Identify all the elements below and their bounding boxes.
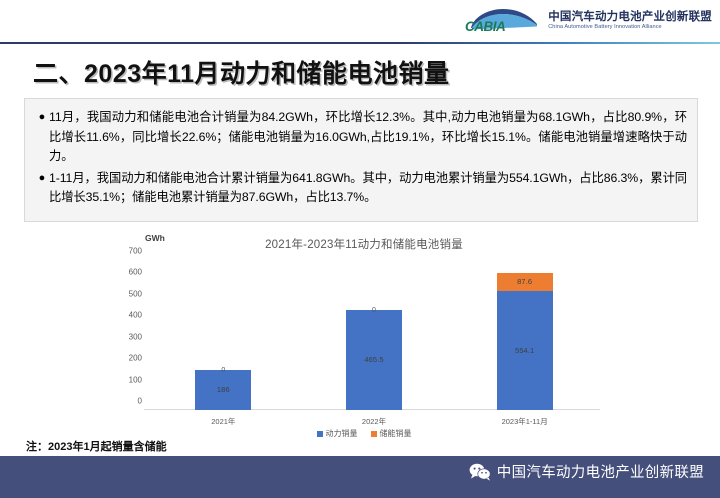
- brand-name-cn: 中国汽车动力电池产业创新联盟: [548, 11, 712, 23]
- chart-bar-value-label: 186: [195, 385, 251, 394]
- y-axis-tick: 700: [129, 247, 142, 256]
- y-axis-tick: 0: [138, 397, 142, 406]
- sales-bar-chart: GWh 2021年-2023年11动力和储能电池销量 7006005004003…: [118, 228, 610, 443]
- chart-legend-item[interactable]: 储能销量: [371, 428, 412, 439]
- brand-logo: CABIA 中国汽车动力电池产业创新联盟 China Automotive Ba…: [463, 6, 712, 36]
- footer-brand: 中国汽车动力电池产业创新联盟: [469, 461, 704, 482]
- legend-swatch-icon: [371, 431, 377, 437]
- y-axis-tick: 500: [129, 289, 142, 298]
- bullet-item: ● 11月，我国动力和储能电池合计销量为84.2GWh，环比增长12.3%。其中…: [35, 108, 687, 167]
- chart-bar-zero-label: 0: [195, 367, 251, 374]
- y-axis-tick: 100: [129, 375, 142, 384]
- brand-text-block: 中国汽车动力电池产业创新联盟 China Automotive Battery …: [548, 11, 712, 31]
- legend-swatch-icon: [317, 431, 323, 437]
- bullet-dot-icon: ●: [35, 108, 49, 128]
- chart-title: 2021年-2023年11动力和储能电池销量: [118, 236, 610, 252]
- chart-bar-group[interactable]: 465.502022年: [346, 260, 402, 410]
- summary-box: ● 11月，我国动力和储能电池合计销量为84.2GWh，环比增长12.3%。其中…: [24, 98, 698, 222]
- legend-label: 动力销量: [326, 428, 358, 439]
- y-axis-tick: 400: [129, 311, 142, 320]
- chart-bar-value-label: 87.6: [497, 277, 553, 286]
- page-header: CABIA 中国汽车动力电池产业创新联盟 China Automotive Ba…: [0, 0, 720, 44]
- wechat-icon: [469, 463, 491, 481]
- y-axis-tick: 300: [129, 332, 142, 341]
- y-axis-tick: 600: [129, 268, 142, 277]
- bullet-text-1: 11月，我国动力和储能电池合计销量为84.2GWh，环比增长12.3%。其中,动…: [49, 108, 687, 167]
- x-axis-tick: 2022年: [346, 416, 402, 427]
- x-axis-tick: 2021年: [195, 416, 251, 427]
- x-axis-tick: 2023年1-11月: [497, 416, 553, 427]
- chart-bar-zero-label: 0: [346, 307, 402, 314]
- page-title: 二、2023年11月动力和储能电池销量: [33, 54, 450, 90]
- chart-bar-group[interactable]: 18602021年: [195, 260, 251, 410]
- chart-plot-area: 700600500400300200100018602021年465.50202…: [148, 260, 600, 410]
- y-axis-tick: 200: [129, 354, 142, 363]
- bullet-item: ● 1-11月，我国动力和储能电池合计累计销量为641.8GWh。其中，动力电池…: [35, 169, 687, 208]
- chart-bar-group[interactable]: 554.187.62023年1-11月: [497, 260, 553, 410]
- header-divider: [0, 42, 720, 44]
- legend-label: 储能销量: [380, 428, 412, 439]
- page-footer: 中国汽车动力电池产业创新联盟: [0, 456, 720, 498]
- chart-legend-item[interactable]: 动力销量: [317, 428, 358, 439]
- bullet-text-2: 1-11月，我国动力和储能电池合计累计销量为641.8GWh。其中，动力电池累计…: [49, 169, 687, 208]
- bullet-dot-icon: ●: [35, 169, 49, 189]
- chart-legend: 动力销量储能销量: [118, 428, 610, 439]
- svg-text:CABIA: CABIA: [465, 19, 505, 34]
- footer-text: 中国汽车动力电池产业创新联盟: [497, 461, 704, 482]
- chart-note: 注：2023年1月起销量含储能: [26, 438, 167, 454]
- chart-bar-value-label: 465.5: [346, 355, 402, 364]
- cabia-car-logo-icon: CABIA: [463, 6, 541, 36]
- brand-name-en: China Automotive Battery Innovation Alli…: [548, 25, 712, 31]
- chart-bar-value-label: 554.1: [497, 346, 553, 355]
